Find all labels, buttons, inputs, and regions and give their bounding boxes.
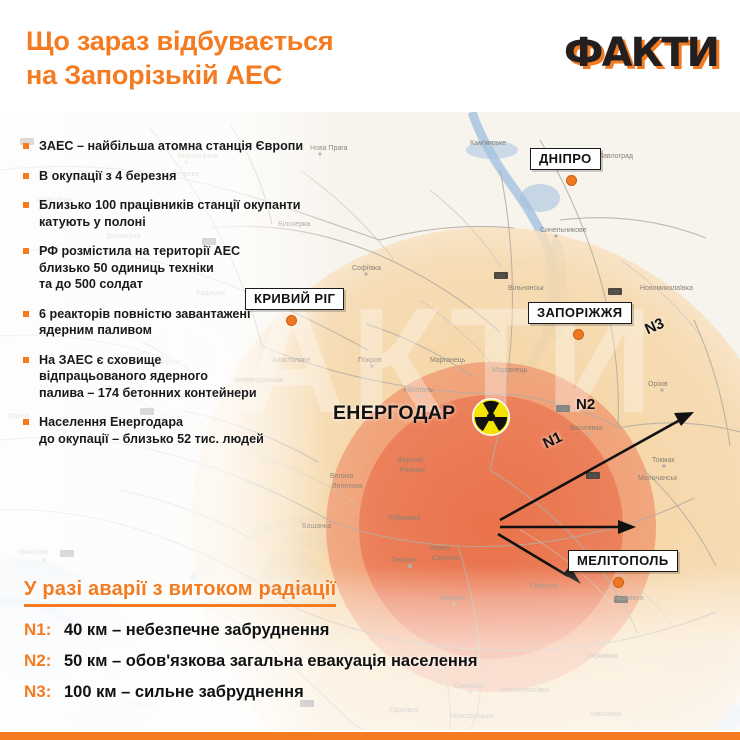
brand-logo: ФАКТИ bbox=[564, 30, 718, 76]
svg-text:Василівка: Василівка bbox=[570, 424, 603, 432]
legend-row-n3: N3: 100 км – сильне забруднення bbox=[24, 682, 624, 702]
arrow-label-n2: N2 bbox=[576, 396, 595, 413]
svg-text:Токмак: Токмак bbox=[652, 457, 675, 464]
svg-text:Лепетиха: Лепетиха bbox=[332, 483, 362, 490]
svg-text:Новотроїцьке: Новотроїцьке bbox=[450, 713, 494, 720]
svg-text:Велика: Велика bbox=[330, 473, 354, 480]
list-item: Населення Енергодара до окупації – близь… bbox=[22, 414, 322, 447]
city-label: ЗАПОРІЖЖЯ bbox=[528, 302, 632, 324]
legend-value: 50 км – обов'язкова загальна евакуація н… bbox=[64, 652, 477, 671]
infographic-root: M04 E50 H08 H15 M14 T04 M18 M14 E58 H11 bbox=[0, 0, 740, 740]
list-item: На ЗАЕС є сховище відпрацьованого ядерно… bbox=[22, 352, 322, 402]
svg-text:Херсон: Херсон bbox=[392, 557, 416, 564]
list-item: В окупації з 4 березня bbox=[22, 168, 322, 185]
svg-text:Вільнянськ: Вільнянськ bbox=[508, 284, 545, 292]
legend-key: N1: bbox=[24, 620, 64, 640]
city-label: КРИВИЙ РІГ bbox=[245, 288, 344, 310]
svg-text:Башанка: Башанка bbox=[302, 523, 331, 530]
svg-text:Марганець: Марганець bbox=[492, 367, 528, 374]
svg-text:H15: H15 bbox=[558, 407, 567, 413]
legend-row-n1: N1: 40 км – небезпечне забруднення bbox=[24, 620, 624, 640]
list-item: РФ розмістила на території АЕС близько 5… bbox=[22, 243, 322, 293]
legend-key: N3: bbox=[24, 682, 64, 702]
svg-text:Покров: Покров bbox=[358, 357, 382, 364]
svg-text:Софіївка: Софіївка bbox=[352, 264, 381, 272]
city-dot bbox=[573, 329, 584, 340]
svg-text:Синельникове: Синельникове bbox=[540, 227, 587, 234]
svg-text:Кам'янське: Кам'янське bbox=[470, 140, 506, 147]
list-item: 6 реакторів повністю завантажені ядерним… bbox=[22, 306, 322, 339]
city-marker-melitopol: МЕЛІТОПОЛЬ bbox=[568, 550, 678, 572]
svg-text:Рубанівка: Рубанівка bbox=[388, 514, 420, 522]
svg-text:Миколаїв: Миколаїв bbox=[18, 549, 49, 556]
city-dot bbox=[286, 315, 297, 326]
legend: У разі аварії з витоком радіації N1: 40 … bbox=[24, 578, 624, 713]
city-label: ДНІПРО bbox=[530, 148, 601, 170]
svg-text:Верхній: Верхній bbox=[398, 456, 423, 464]
footer-accent-bar bbox=[0, 732, 740, 740]
city-dot bbox=[566, 175, 577, 186]
list-item: ЗАЕС – найбільша атомна станція Європи bbox=[22, 138, 322, 155]
legend-value: 40 км – небезпечне забруднення bbox=[64, 621, 329, 640]
city-marker-kryvyi-rih: КРИВИЙ РІГ bbox=[245, 288, 344, 310]
city-marker-dnipro: ДНІПРО bbox=[530, 148, 601, 170]
svg-text:M14: M14 bbox=[62, 552, 72, 558]
radiation-icon bbox=[472, 398, 510, 436]
page-title: Що зараз відбувається на Запорізькій АЕС bbox=[26, 24, 334, 92]
svg-text:E50: E50 bbox=[496, 274, 505, 280]
list-item: Близько 100 працівників станції окупанти… bbox=[22, 197, 322, 230]
city-label: МЕЛІТОПОЛЬ bbox=[568, 550, 678, 572]
legend-row-n2: N2: 50 км – обов'язкова загальна евакуац… bbox=[24, 651, 624, 671]
svg-text:Новомиколаївка: Новомиколаївка bbox=[640, 285, 693, 292]
svg-text:Марганець: Марганець bbox=[430, 357, 466, 364]
header: Що зараз відбувається на Запорізькій АЕС… bbox=[0, 0, 740, 112]
enerhodar-label: ЕНЕРГОДАР bbox=[333, 402, 456, 425]
svg-text:T04: T04 bbox=[588, 474, 597, 480]
svg-text:Рогачик: Рогачик bbox=[400, 467, 426, 474]
city-marker-zaporizhzhia: ЗАПОРІЖЖЯ bbox=[528, 302, 632, 324]
svg-text:Нижні: Нижні bbox=[430, 544, 450, 552]
legend-heading: У разі аварії з витоком радіації bbox=[24, 578, 336, 607]
svg-text:Сірогози: Сірогози bbox=[432, 554, 460, 562]
legend-value: 100 км – сильне забруднення bbox=[64, 683, 304, 702]
legend-key: N2: bbox=[24, 651, 64, 671]
svg-text:H08: H08 bbox=[610, 290, 619, 296]
svg-text:Оріхів: Оріхів bbox=[648, 380, 668, 388]
svg-text:Павлоград: Павлоград bbox=[598, 153, 633, 160]
svg-text:Нікополь: Нікополь bbox=[404, 386, 433, 394]
svg-text:Молочанськ: Молочанськ bbox=[638, 475, 678, 482]
